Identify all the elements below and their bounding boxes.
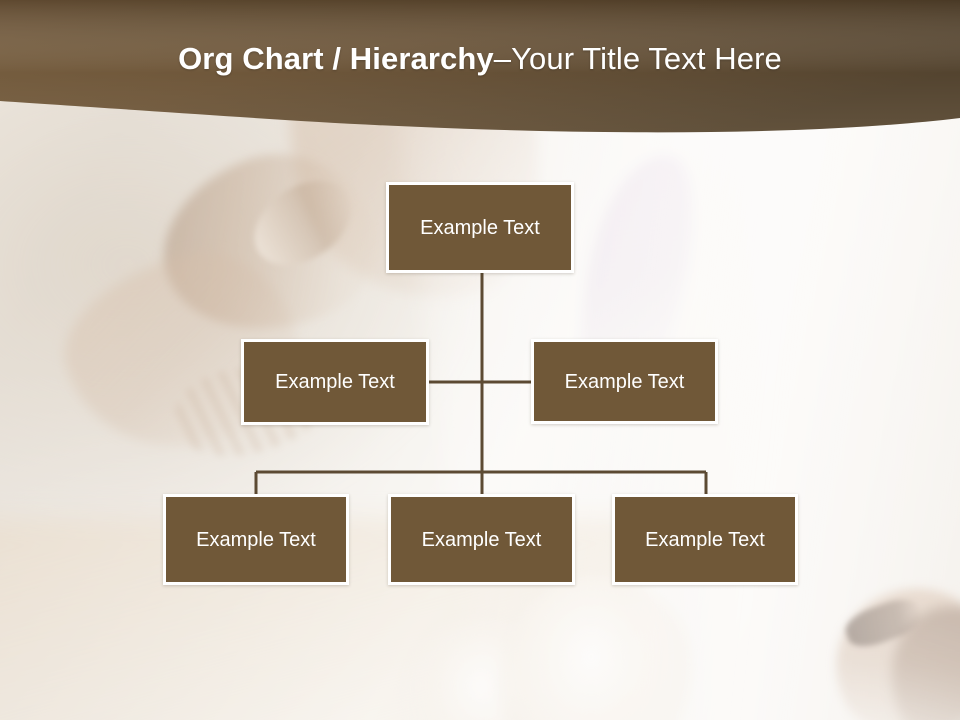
page-title: Org Chart / Hierarchy – Your Title Text … bbox=[0, 0, 960, 118]
org-node-root-label: Example Text bbox=[420, 218, 540, 238]
org-node-right-mid[interactable]: Example Text bbox=[531, 339, 718, 424]
org-node-root[interactable]: Example Text bbox=[386, 182, 574, 273]
org-node-bottom-center-label: Example Text bbox=[422, 530, 542, 550]
header-banner: Org Chart / Hierarchy – Your Title Text … bbox=[0, 0, 960, 140]
page-title-light: Your Title Text Here bbox=[511, 41, 782, 77]
slide-canvas: Org Chart / Hierarchy – Your Title Text … bbox=[0, 0, 960, 720]
org-node-bottom-right-label: Example Text bbox=[645, 530, 765, 550]
org-node-right-mid-label: Example Text bbox=[565, 372, 685, 392]
org-node-bottom-left[interactable]: Example Text bbox=[163, 494, 349, 585]
page-title-bold: Org Chart / Hierarchy bbox=[178, 41, 494, 77]
org-node-bottom-right[interactable]: Example Text bbox=[612, 494, 798, 585]
org-node-left-mid[interactable]: Example Text bbox=[241, 339, 429, 425]
org-node-bottom-center[interactable]: Example Text bbox=[388, 494, 575, 585]
org-node-left-mid-label: Example Text bbox=[275, 372, 395, 392]
org-node-bottom-left-label: Example Text bbox=[196, 530, 316, 550]
page-title-separator: – bbox=[494, 41, 511, 77]
